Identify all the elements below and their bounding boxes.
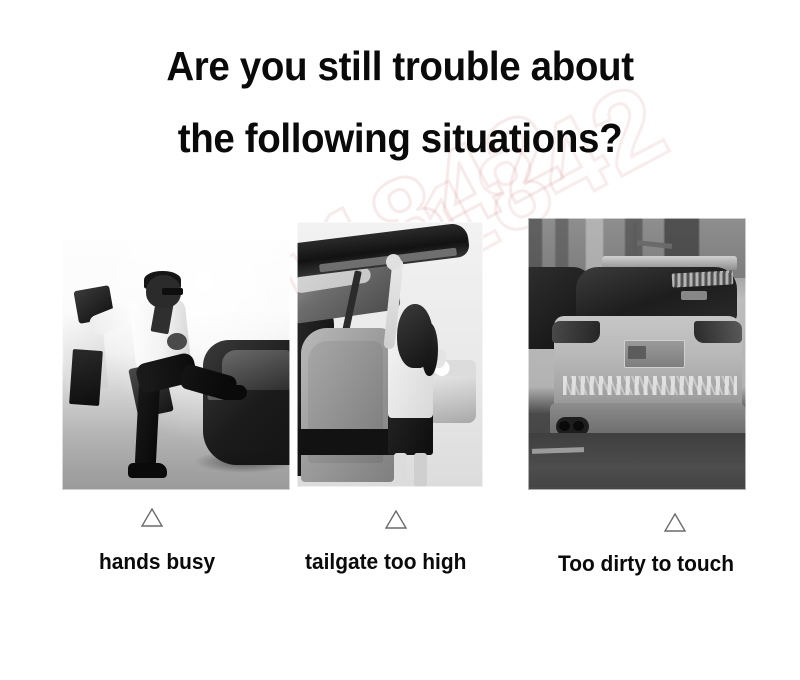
caption-too-dirty-to-touch: Too dirty to touch xyxy=(558,551,734,577)
triangle-marker-hands-busy xyxy=(141,508,163,527)
photo-panel-too-dirty-to-touch xyxy=(528,218,746,490)
photo-dirty-car-rear xyxy=(528,218,746,490)
panel-accent-line xyxy=(528,487,746,490)
photo-man-kicking-bumper xyxy=(62,240,290,490)
promo-poster: stor1842 1842 Are you still trouble abou… xyxy=(0,0,800,680)
photo-panel-hands-busy xyxy=(62,240,290,490)
caption-hands-busy: hands busy xyxy=(99,549,215,575)
photo-panel-group xyxy=(0,0,800,680)
triangle-marker-tailgate-too-high xyxy=(385,510,407,529)
caption-tailgate-too-high: tailgate too high xyxy=(305,549,466,575)
photo-panel-tailgate-too-high xyxy=(297,222,483,487)
triangle-marker-too-dirty-to-touch xyxy=(664,513,686,532)
photo-woman-reaching-tailgate xyxy=(297,222,483,487)
